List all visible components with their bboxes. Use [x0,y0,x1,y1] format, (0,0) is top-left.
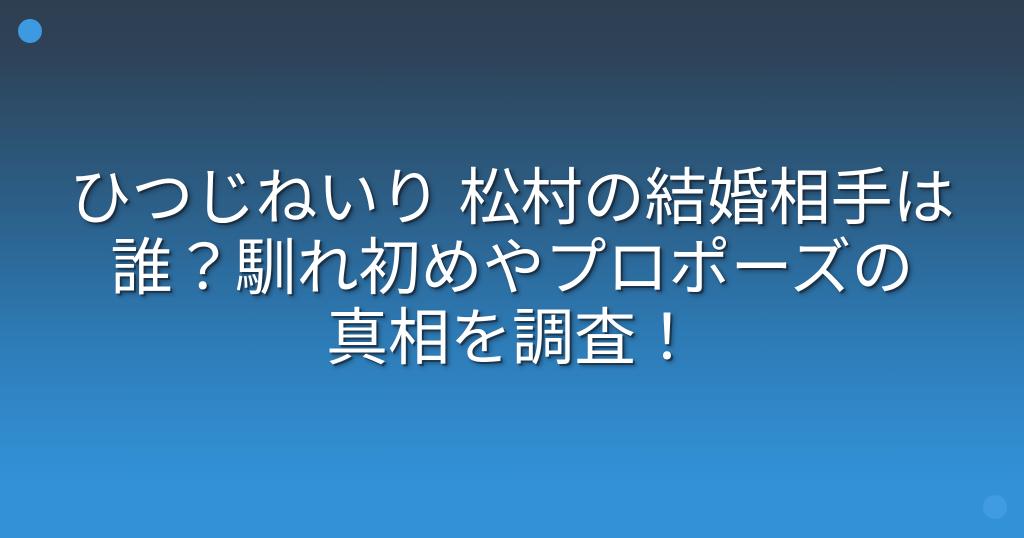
title-line-3: 真相を調査！ [40,304,984,374]
title-line-2: 誰？馴れ初めやプロポーズの [40,234,984,304]
title-line-1: ひつじねいり 松村の結婚相手は [40,164,984,234]
page-title: ひつじねいり 松村の結婚相手は 誰？馴れ初めやプロポーズの 真相を調査！ [0,0,1024,538]
eyecatch-canvas: ひつじねいり 松村の結婚相手は 誰？馴れ初めやプロポーズの 真相を調査！ [0,0,1024,538]
